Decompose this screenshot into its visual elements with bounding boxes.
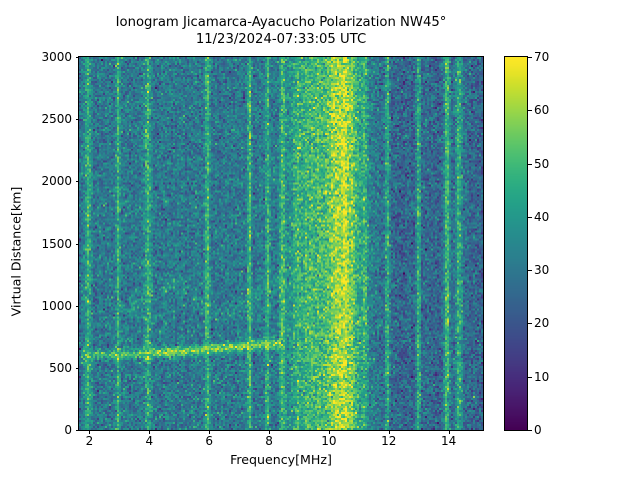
colorbar-tick-mark	[528, 377, 532, 378]
x-tick-mark	[209, 430, 210, 434]
y-axis-label: Virtual Distance[km]	[9, 151, 24, 351]
colorbar-tick-label: 70	[534, 50, 549, 64]
x-tick-label: 6	[205, 434, 213, 448]
ionogram-heatmap	[79, 57, 483, 430]
colorbar-gradient	[505, 57, 527, 430]
y-tick-mark	[76, 368, 80, 369]
x-tick-mark	[149, 430, 150, 434]
x-tick-label: 10	[321, 434, 336, 448]
x-tick-label: 4	[145, 434, 153, 448]
x-tick-label: 14	[441, 434, 456, 448]
x-tick-mark	[329, 430, 330, 434]
x-tick-label: 2	[86, 434, 94, 448]
chart-title-line-2: 11/23/2024-07:33:05 UTC	[79, 32, 483, 49]
x-tick-label: 8	[265, 434, 273, 448]
colorbar-tick-label: 20	[534, 316, 549, 330]
x-axis-label: Frequency[MHz]	[79, 452, 483, 467]
y-tick-label: 1000	[31, 299, 72, 313]
y-tick-label: 2500	[31, 112, 72, 126]
colorbar-tick-mark	[528, 323, 532, 324]
colorbar-tick-label: 0	[534, 423, 542, 437]
y-tick-label: 1500	[31, 237, 72, 251]
y-tick-label: 0	[31, 423, 72, 437]
colorbar-tick-label: 50	[534, 157, 549, 171]
x-tick-mark	[89, 430, 90, 434]
x-tick-mark	[269, 430, 270, 434]
y-tick-label: 2000	[31, 174, 72, 188]
y-tick-mark	[76, 430, 80, 431]
colorbar-tick-mark	[528, 217, 532, 218]
figure-canvas: Ionogram Jicamarca-Ayacucho Polarization…	[0, 0, 640, 480]
colorbar-tick-mark	[528, 110, 532, 111]
colorbar-tick-label: 40	[534, 210, 549, 224]
x-tick-label: 12	[381, 434, 396, 448]
colorbar-tick-label: 30	[534, 263, 549, 277]
colorbar-tick-mark	[528, 430, 532, 431]
colorbar	[504, 56, 528, 431]
y-tick-mark	[76, 244, 80, 245]
colorbar-tick-mark	[528, 57, 532, 58]
chart-title-line-1: Ionogram Jicamarca-Ayacucho Polarization…	[79, 15, 483, 32]
y-tick-label: 3000	[31, 50, 72, 64]
colorbar-tick-mark	[528, 164, 532, 165]
ionogram-plot-area	[78, 56, 484, 431]
y-tick-label: 500	[31, 361, 72, 375]
y-tick-mark	[76, 119, 80, 120]
x-tick-mark	[389, 430, 390, 434]
y-tick-mark	[76, 306, 80, 307]
y-tick-mark	[76, 181, 80, 182]
x-tick-mark	[449, 430, 450, 434]
y-tick-mark	[76, 57, 80, 58]
colorbar-tick-label: 10	[534, 370, 549, 384]
colorbar-tick-mark	[528, 270, 532, 271]
chart-title: Ionogram Jicamarca-Ayacucho Polarization…	[79, 15, 483, 48]
colorbar-tick-label: 60	[534, 103, 549, 117]
